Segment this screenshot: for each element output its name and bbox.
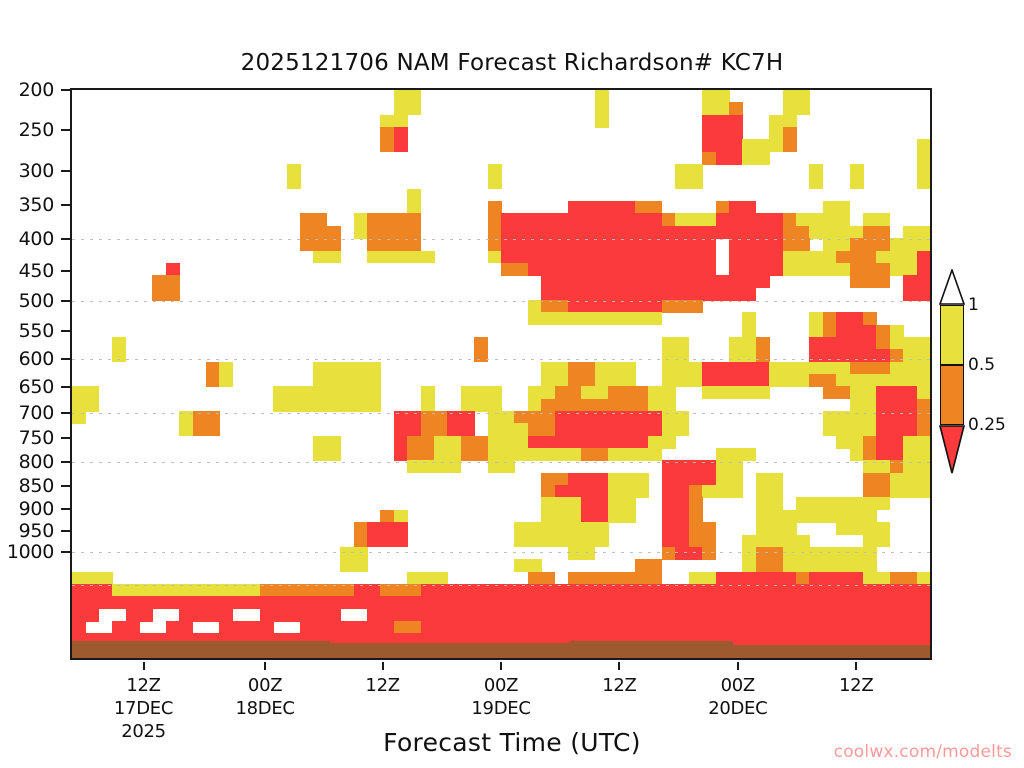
heatmap-cell — [903, 609, 917, 622]
y-tick-label: 200 — [19, 79, 54, 101]
heatmap-cell — [917, 485, 931, 498]
heatmap-cell — [541, 485, 555, 498]
y-tick-mark — [61, 204, 70, 206]
heatmap-cell — [809, 374, 823, 387]
heatmap-cell — [313, 362, 327, 375]
heatmap-cell — [179, 596, 193, 609]
heatmap-cell — [783, 535, 797, 548]
heatmap-cell — [783, 213, 797, 226]
y-tick-mark — [61, 129, 70, 131]
heatmap-cell — [850, 547, 864, 560]
heatmap-cell — [581, 448, 595, 461]
heatmap-cell — [823, 201, 837, 214]
heatmap-cell — [367, 362, 381, 375]
heatmap-cell — [742, 584, 756, 597]
heatmap-cell — [756, 535, 770, 548]
heatmap-cell — [648, 423, 662, 436]
heatmap-cell — [581, 473, 595, 486]
heatmap-cell — [742, 288, 756, 301]
heatmap-cell — [501, 460, 515, 473]
heatmap-cell — [501, 609, 515, 622]
heatmap-cell — [675, 423, 689, 436]
heatmap-cell — [702, 584, 716, 597]
heatmap-cell — [354, 213, 368, 226]
heatmap-cell — [555, 226, 569, 239]
heatmap-cell — [689, 609, 703, 622]
heatmap-cell — [796, 102, 810, 115]
heatmap-cell — [622, 448, 636, 461]
heatmap-cell — [622, 621, 636, 634]
heatmap-cell — [219, 596, 233, 609]
heatmap-cell — [662, 226, 676, 239]
heatmap-cell — [675, 226, 689, 239]
heatmap-cell — [917, 448, 931, 461]
heatmap-cell — [474, 337, 488, 350]
heatmap-cell — [595, 411, 609, 424]
heatmap-cell — [581, 609, 595, 622]
heatmap-cell — [260, 609, 274, 622]
heatmap-cell — [756, 584, 770, 597]
heatmap-cell — [421, 386, 435, 399]
colorbar: 10.50.25 — [940, 305, 964, 485]
heatmap-cell — [514, 596, 528, 609]
heatmap-cell — [112, 621, 126, 634]
heatmap-cell — [488, 460, 502, 473]
heatmap-cell — [890, 263, 904, 276]
heatmap-cell — [555, 621, 569, 634]
heatmap-cell — [608, 263, 622, 276]
heatmap-cell — [313, 448, 327, 461]
heatmap-cell — [675, 213, 689, 226]
heatmap-cell — [850, 238, 864, 251]
heatmap-cell — [313, 596, 327, 609]
heatmap-cell — [581, 399, 595, 412]
heatmap-cell — [702, 263, 716, 276]
y-tick-label: 500 — [19, 290, 54, 312]
heatmap-cell — [595, 263, 609, 276]
heatmap-cell — [850, 411, 864, 424]
heatmap-cell — [836, 238, 850, 251]
chart-root: 2025121706 NAM Forecast Richardson# KC7H… — [0, 0, 1024, 768]
heatmap-cell — [528, 423, 542, 436]
heatmap-cell — [394, 448, 408, 461]
heatmap-cell — [689, 497, 703, 510]
heatmap-cell — [541, 399, 555, 412]
heatmap-cell — [555, 510, 569, 523]
heatmap-cell — [863, 609, 877, 622]
heatmap-cell — [675, 362, 689, 375]
heatmap-cell — [756, 263, 770, 276]
heatmap-cell — [635, 448, 649, 461]
heatmap-cell — [809, 349, 823, 362]
heatmap-cell — [541, 448, 555, 461]
heatmap-cell — [823, 263, 837, 276]
heatmap-cell — [421, 411, 435, 424]
heatmap-cell — [595, 510, 609, 523]
heatmap-cell — [756, 213, 770, 226]
heatmap-cell — [447, 609, 461, 622]
heatmap-cell — [501, 263, 515, 276]
heatmap-cell — [836, 251, 850, 264]
heatmap-cell — [850, 609, 864, 622]
x-axis: 12Z17DEC202500Z18DEC12Z00Z19DEC12Z00Z20D… — [70, 662, 932, 732]
heatmap-cell — [541, 572, 555, 585]
heatmap-cell — [568, 263, 582, 276]
heatmap-cell — [568, 547, 582, 560]
heatmap-cell — [648, 584, 662, 597]
heatmap-cell — [99, 572, 113, 585]
heatmap-cell — [876, 497, 890, 510]
heatmap-cell — [729, 238, 743, 251]
heatmap-cell — [568, 473, 582, 486]
heatmap-cell — [689, 176, 703, 189]
heatmap-cell — [581, 362, 595, 375]
heatmap-cell — [635, 226, 649, 239]
heatmap-cell — [689, 510, 703, 523]
heatmap-cell — [528, 251, 542, 264]
heatmap-cell — [635, 251, 649, 264]
heatmap-cell — [340, 584, 354, 597]
heatmap-cell — [581, 275, 595, 288]
heatmap-cell — [367, 584, 381, 597]
heatmap-cell — [608, 288, 622, 301]
heatmap-cell — [568, 238, 582, 251]
heatmap-cell — [407, 621, 421, 634]
heatmap-cell — [581, 226, 595, 239]
heatmap-cell — [675, 164, 689, 177]
heatmap-cell — [903, 337, 917, 350]
heatmap-cell — [903, 460, 917, 473]
heatmap-cell — [608, 275, 622, 288]
heatmap-cell — [635, 213, 649, 226]
heatmap-cell — [595, 423, 609, 436]
y-tick-mark — [61, 270, 70, 272]
heatmap-cell — [850, 337, 864, 350]
heatmap-cell — [756, 337, 770, 350]
heatmap-cell — [367, 226, 381, 239]
heatmap-cell — [488, 448, 502, 461]
heatmap-cell — [863, 448, 877, 461]
heatmap-cell — [863, 399, 877, 412]
heatmap-cell — [702, 238, 716, 251]
heatmap-cell — [662, 473, 676, 486]
heatmap-cell — [675, 374, 689, 387]
heatmap-cell — [608, 201, 622, 214]
heatmap-cell — [555, 374, 569, 387]
heatmap-cell — [313, 584, 327, 597]
heatmap-cell — [662, 584, 676, 597]
heatmap-cell — [675, 547, 689, 560]
y-tick-mark — [61, 437, 70, 439]
heatmap-cell — [783, 251, 797, 264]
heatmap-cell — [917, 337, 931, 350]
heatmap-cell — [756, 609, 770, 622]
heatmap-cell — [850, 448, 864, 461]
heatmap-cell — [876, 436, 890, 449]
heatmap-cell — [407, 460, 421, 473]
heatmap-cell — [340, 386, 354, 399]
heatmap-cell — [796, 497, 810, 510]
heatmap-cell — [783, 584, 797, 597]
heatmap-cell — [903, 448, 917, 461]
heatmap-cell — [595, 572, 609, 585]
heatmap-cell — [541, 300, 555, 313]
heatmap-cell — [689, 288, 703, 301]
heatmap-cell — [555, 473, 569, 486]
heatmap-cell — [702, 374, 716, 387]
heatmap-cell — [193, 423, 207, 436]
heatmap-cell — [85, 572, 99, 585]
heatmap-cell — [823, 213, 837, 226]
heatmap-cell — [595, 300, 609, 313]
heatmap-cell — [716, 460, 730, 473]
heatmap-cell — [836, 226, 850, 239]
heatmap-cell — [622, 201, 636, 214]
heatmap-cell — [648, 386, 662, 399]
y-tick-mark — [61, 412, 70, 414]
heatmap-cell — [568, 596, 582, 609]
heatmap-cell — [876, 337, 890, 350]
heatmap-cell — [769, 510, 783, 523]
heatmap-cell — [729, 213, 743, 226]
heatmap-cell — [152, 275, 166, 288]
heatmap-cell — [850, 164, 864, 177]
heatmap-cell — [528, 621, 542, 634]
heatmap-cell — [219, 609, 233, 622]
heatmap-cell — [689, 238, 703, 251]
heatmap-cell — [541, 275, 555, 288]
heatmap-cell — [608, 436, 622, 449]
heatmap-cell — [917, 152, 931, 165]
y-tick-mark — [61, 485, 70, 487]
heatmap-cell — [702, 127, 716, 140]
heatmap-cell — [340, 621, 354, 634]
heatmap-cell — [648, 300, 662, 313]
heatmap-cell — [421, 423, 435, 436]
heatmap-cell — [903, 411, 917, 424]
heatmap-cell — [622, 485, 636, 498]
heatmap-cell — [206, 609, 220, 622]
heatmap-cell — [541, 386, 555, 399]
heatmap-cell — [890, 436, 904, 449]
heatmap-cell — [716, 485, 730, 498]
heatmap-cell — [702, 386, 716, 399]
heatmap-cell — [876, 275, 890, 288]
heatmap-cell — [421, 436, 435, 449]
terrain-segment — [733, 645, 931, 658]
heatmap-cell — [394, 436, 408, 449]
heatmap-cell — [689, 460, 703, 473]
heatmap-cell — [648, 399, 662, 412]
heatmap-cell — [823, 411, 837, 424]
heatmap-cell — [729, 609, 743, 622]
heatmap-cell — [488, 584, 502, 597]
heatmap-cell — [850, 386, 864, 399]
heatmap-cell — [769, 226, 783, 239]
heatmap-cell — [488, 386, 502, 399]
heatmap-cell — [488, 399, 502, 412]
heatmap-cell — [836, 497, 850, 510]
heatmap-cell — [648, 226, 662, 239]
heatmap-cell — [836, 436, 850, 449]
heatmap-cell — [595, 201, 609, 214]
heatmap-cell — [796, 510, 810, 523]
heatmap-cell — [568, 510, 582, 523]
heatmap-cell — [622, 399, 636, 412]
heatmap-cell — [595, 288, 609, 301]
heatmap-cell — [675, 485, 689, 498]
heatmap-cell — [796, 90, 810, 103]
heatmap-cell — [367, 609, 381, 622]
heatmap-cell — [876, 263, 890, 276]
heatmap-cell — [595, 535, 609, 548]
y-tick-label: 350 — [19, 194, 54, 216]
heatmap-cell — [313, 399, 327, 412]
heatmap-cell — [742, 201, 756, 214]
heatmap-cell — [608, 510, 622, 523]
heatmap-cell — [179, 621, 193, 634]
heatmap-cell — [568, 436, 582, 449]
heatmap-cell — [635, 485, 649, 498]
heatmap-cell — [461, 596, 475, 609]
heatmap-cell — [313, 621, 327, 634]
colorbar-label: 1 — [968, 295, 979, 315]
heatmap-cell — [555, 522, 569, 535]
heatmap-cell — [622, 312, 636, 325]
heatmap-cell — [568, 485, 582, 498]
heatmap-cell — [756, 473, 770, 486]
heatmap-cell — [675, 300, 689, 313]
heatmap-cell — [313, 374, 327, 387]
heatmap-cell — [541, 510, 555, 523]
heatmap-cell — [823, 559, 837, 572]
heatmap-cell — [394, 213, 408, 226]
heatmap-cell — [850, 176, 864, 189]
heatmap-cell — [622, 473, 636, 486]
heatmap-cell — [581, 300, 595, 313]
heatmap-cell — [903, 386, 917, 399]
heatmap-cell — [514, 226, 528, 239]
heatmap-cell — [112, 596, 126, 609]
heatmap-cell — [608, 473, 622, 486]
heatmap-cell — [917, 460, 931, 473]
heatmap-cell — [514, 621, 528, 634]
heatmap-cell — [876, 213, 890, 226]
heatmap-cell — [769, 374, 783, 387]
heatmap-cell — [729, 263, 743, 276]
heatmap-cell — [917, 139, 931, 152]
heatmap-cell — [568, 411, 582, 424]
heatmap-cell — [635, 609, 649, 622]
heatmap-cell — [367, 386, 381, 399]
heatmap-cell — [917, 572, 931, 585]
heatmap-cell — [769, 584, 783, 597]
heatmap-cell — [809, 164, 823, 177]
heatmap-cell — [541, 226, 555, 239]
heatmap-cell — [568, 288, 582, 301]
heatmap-cell — [675, 349, 689, 362]
heatmap-cell — [488, 176, 502, 189]
heatmap-cell — [461, 399, 475, 412]
heatmap-cell — [823, 423, 837, 436]
heatmap-cell — [421, 609, 435, 622]
heatmap-cell — [528, 213, 542, 226]
heatmap-cell — [622, 213, 636, 226]
heatmap-cell — [434, 609, 448, 622]
heatmap-cell — [675, 238, 689, 251]
heatmap-cell — [863, 362, 877, 375]
heatmap-cell — [742, 349, 756, 362]
heatmap-cell — [568, 275, 582, 288]
heatmap-cell — [729, 115, 743, 128]
heatmap-cell — [488, 251, 502, 264]
heatmap-cell — [126, 584, 140, 597]
heatmap-cell — [313, 226, 327, 239]
heatmap-cell — [809, 609, 823, 622]
heatmap-cell — [340, 547, 354, 560]
heatmap-cell — [394, 115, 408, 128]
heatmap-cell — [99, 596, 113, 609]
heatmap-cell — [662, 275, 676, 288]
heatmap-cell — [434, 596, 448, 609]
heatmap-cell — [595, 374, 609, 387]
heatmap-cell — [917, 411, 931, 424]
heatmap-cell — [796, 547, 810, 560]
heatmap-cell — [528, 559, 542, 572]
heatmap-cell — [139, 609, 153, 622]
heatmap-cell — [742, 621, 756, 634]
heatmap-cell — [528, 572, 542, 585]
heatmap-cell — [233, 584, 247, 597]
heatmap-cell — [890, 238, 904, 251]
heatmap-cell — [541, 436, 555, 449]
heatmap-cell — [608, 621, 622, 634]
heatmap-cell — [702, 621, 716, 634]
heatmap-cell — [595, 115, 609, 128]
heatmap-cell — [447, 584, 461, 597]
heatmap-cell — [514, 251, 528, 264]
heatmap-cell — [407, 102, 421, 115]
heatmap-cell — [702, 572, 716, 585]
heatmap-cell — [809, 510, 823, 523]
heatmap-cell — [635, 436, 649, 449]
heatmap-cell — [313, 213, 327, 226]
heatmap-cell — [702, 139, 716, 152]
heatmap-cell — [421, 621, 435, 634]
heatmap-cell — [863, 349, 877, 362]
heatmap-cell — [380, 139, 394, 152]
heatmap-cell — [702, 596, 716, 609]
heatmap-cell — [608, 374, 622, 387]
heatmap-cell — [434, 584, 448, 597]
heatmap-cell — [474, 399, 488, 412]
heatmap-cell — [662, 288, 676, 301]
heatmap-cell — [327, 374, 341, 387]
heatmap-cell — [461, 609, 475, 622]
heatmap-cell — [903, 349, 917, 362]
heatmap-cell — [850, 522, 864, 535]
heatmap-cell — [528, 226, 542, 239]
heatmap-cell — [514, 263, 528, 276]
heatmap-cell — [528, 386, 542, 399]
heatmap-cell — [501, 238, 515, 251]
heatmap-cell — [850, 325, 864, 338]
heatmap-cell — [729, 621, 743, 634]
heatmap-cell — [474, 621, 488, 634]
heatmap-cell — [407, 251, 421, 264]
heatmap-cell — [702, 535, 716, 548]
heatmap-cell — [769, 609, 783, 622]
